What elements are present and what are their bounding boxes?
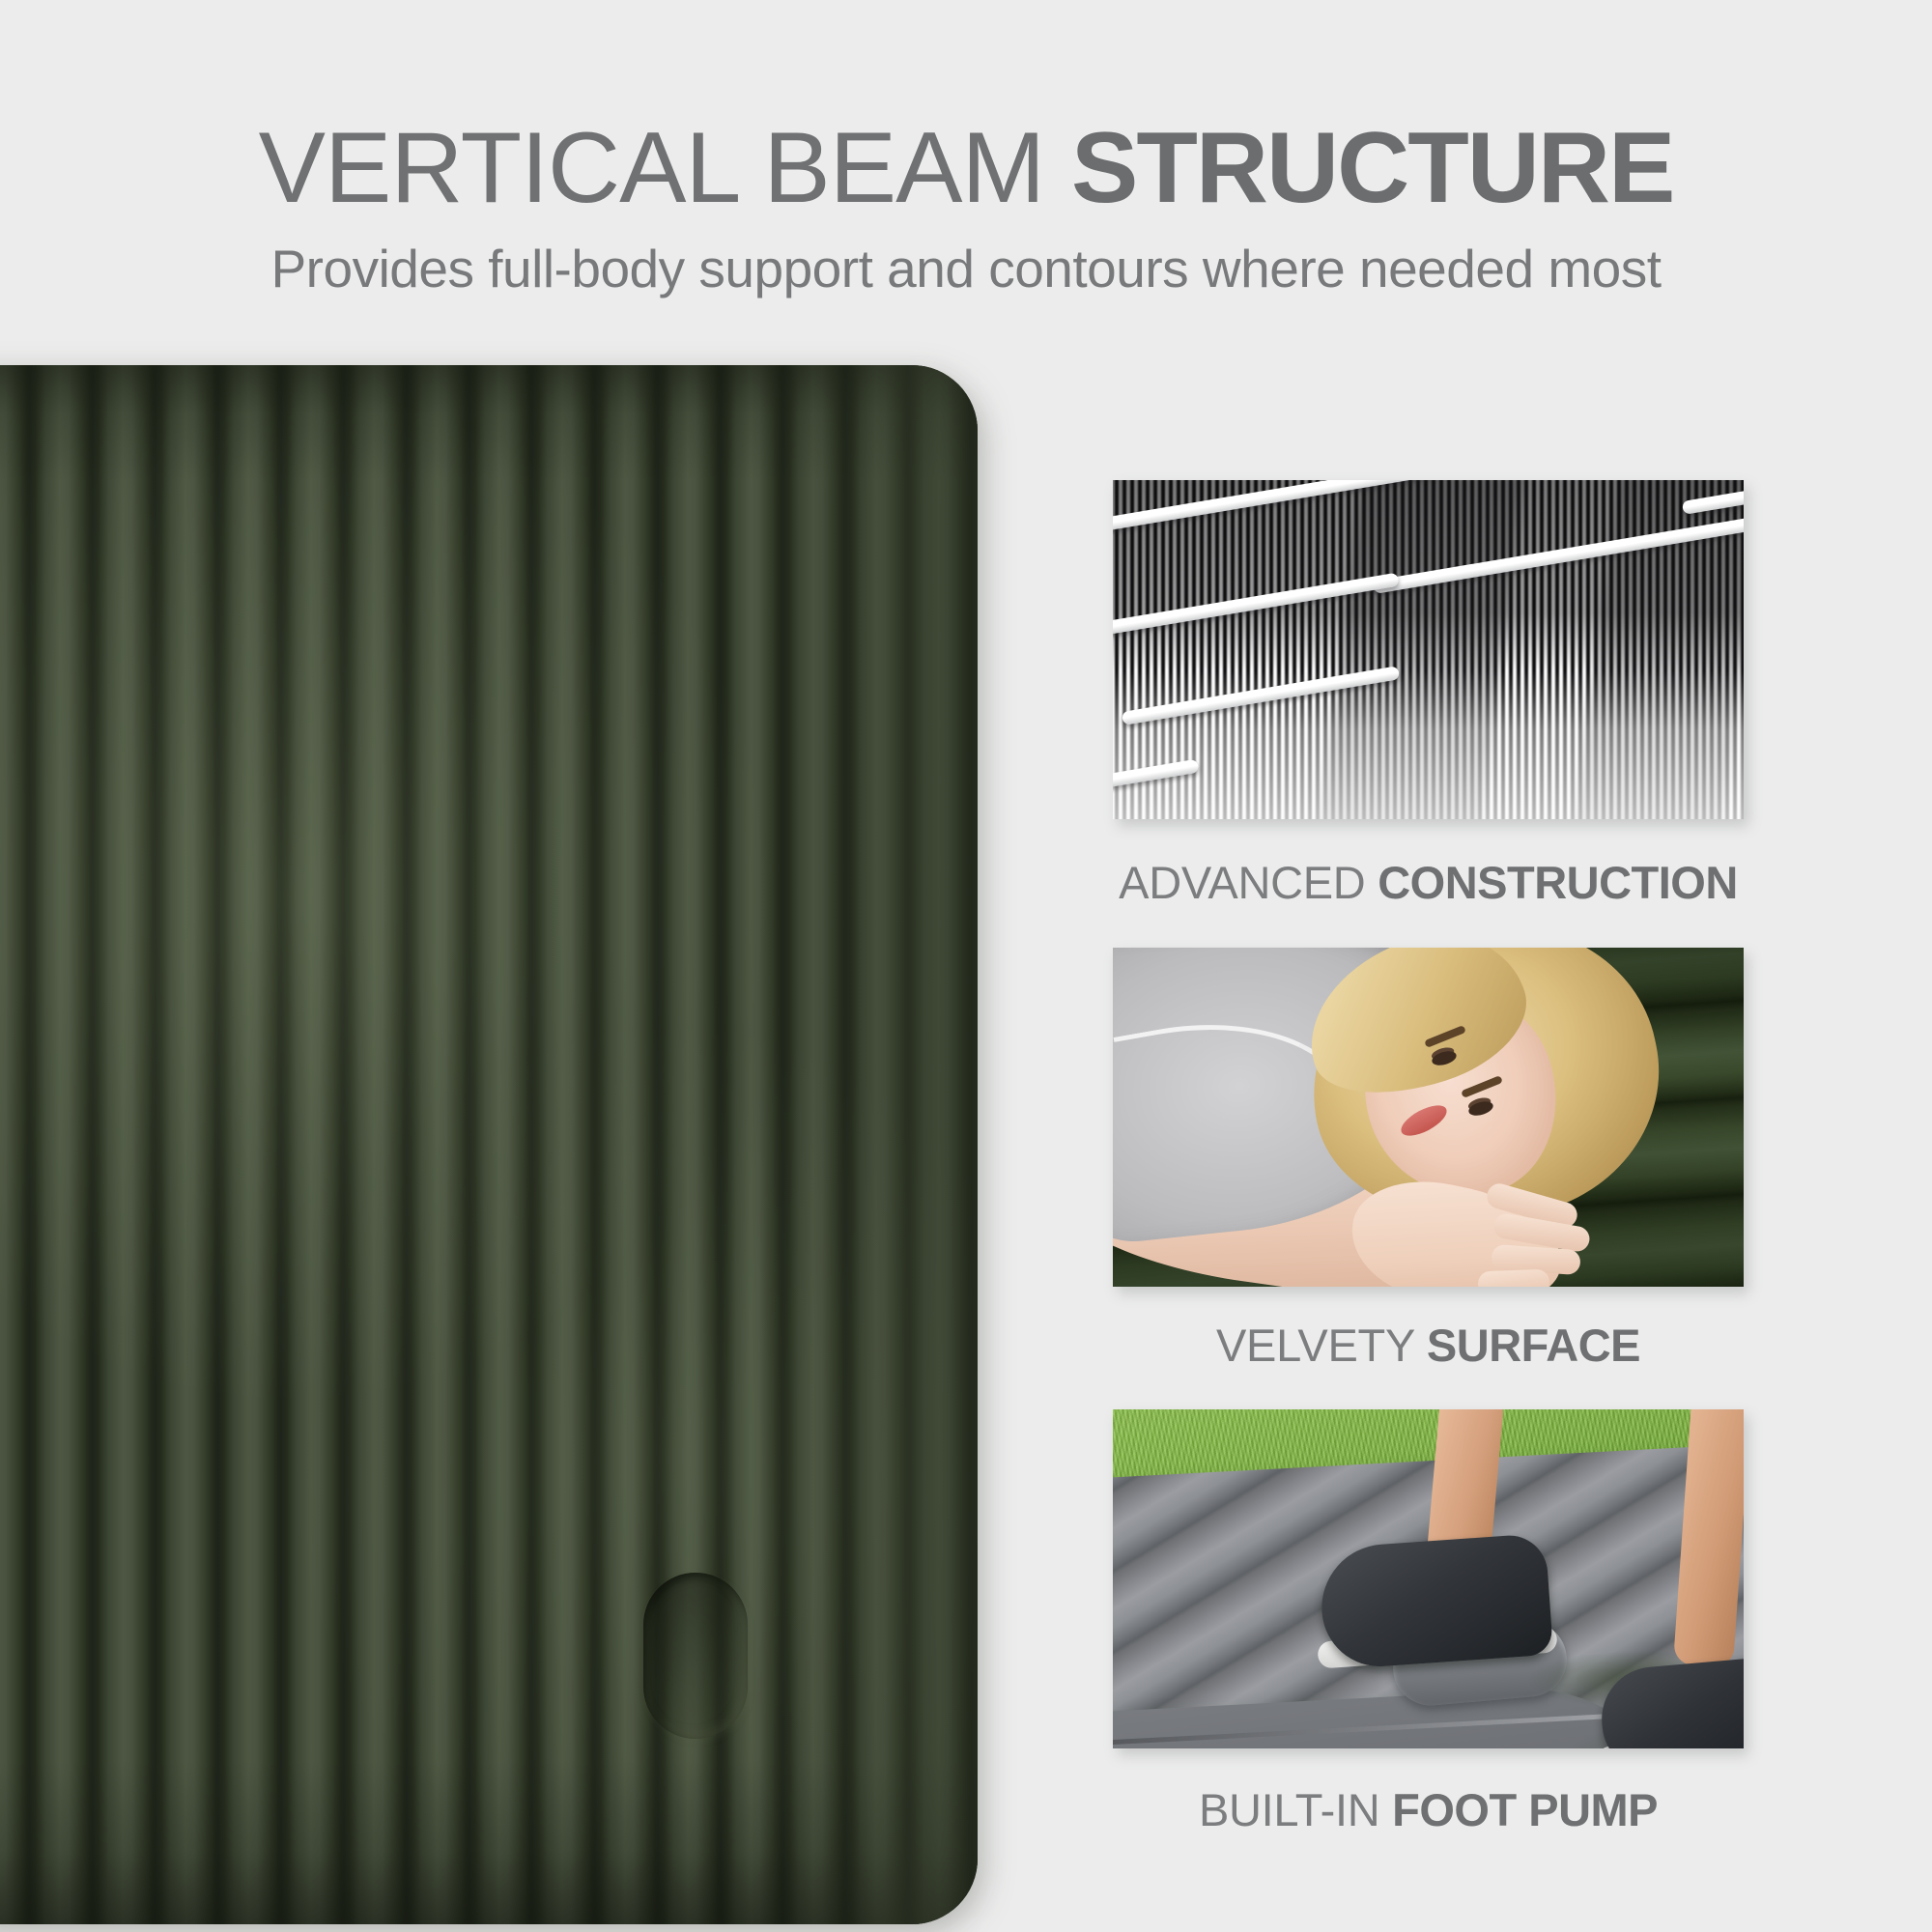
page-title-light: VERTICAL BEAM — [259, 112, 1071, 224]
caption-light: ADVANCED — [1119, 857, 1378, 908]
black-sneaker-pressing-pump — [1318, 1533, 1553, 1670]
mattress-right-edge-roll — [755, 365, 978, 1924]
feature-list: ADVANCED CONSTRUCTION — [1113, 480, 1744, 1835]
page-subtitle: Provides full-body support and contours … — [0, 240, 1932, 298]
caption-light: VELVETY — [1216, 1320, 1427, 1371]
foot-pump-recess-icon — [643, 1573, 748, 1739]
caption-bold: FOOT PUMP — [1392, 1784, 1658, 1835]
feature-caption-construction: ADVANCED CONSTRUCTION — [1113, 858, 1744, 908]
infographic-page: VERTICAL BEAM STRUCTURE Provides full-bo… — [0, 0, 1932, 1932]
page-title-bold: STRUCTURE — [1071, 112, 1673, 224]
feature-caption-surface: VELVETY SURFACE — [1113, 1321, 1744, 1371]
caption-bold: SURFACE — [1427, 1320, 1640, 1371]
caption-bold: CONSTRUCTION — [1378, 857, 1738, 908]
velvety-surface-thumbnail[interactable] — [1113, 948, 1744, 1287]
feature-item-surface[interactable]: VELVETY SURFACE — [1113, 948, 1744, 1371]
feature-item-foot-pump[interactable]: BUILT-IN FOOT PUMP — [1113, 1409, 1744, 1835]
model-finger — [1478, 1269, 1550, 1287]
feature-item-construction[interactable]: ADVANCED CONSTRUCTION — [1113, 480, 1744, 908]
built-in-foot-pump-thumbnail[interactable] — [1113, 1409, 1744, 1748]
hero-product-image — [0, 365, 978, 1924]
header: VERTICAL BEAM STRUCTURE Provides full-bo… — [0, 114, 1932, 298]
caption-light: BUILT-IN — [1199, 1784, 1392, 1835]
advanced-construction-thumbnail[interactable] — [1113, 480, 1744, 819]
feature-caption-foot-pump: BUILT-IN FOOT PUMP — [1113, 1785, 1744, 1835]
lower-light-gradient — [1113, 670, 1744, 819]
page-title: VERTICAL BEAM STRUCTURE — [0, 114, 1932, 222]
